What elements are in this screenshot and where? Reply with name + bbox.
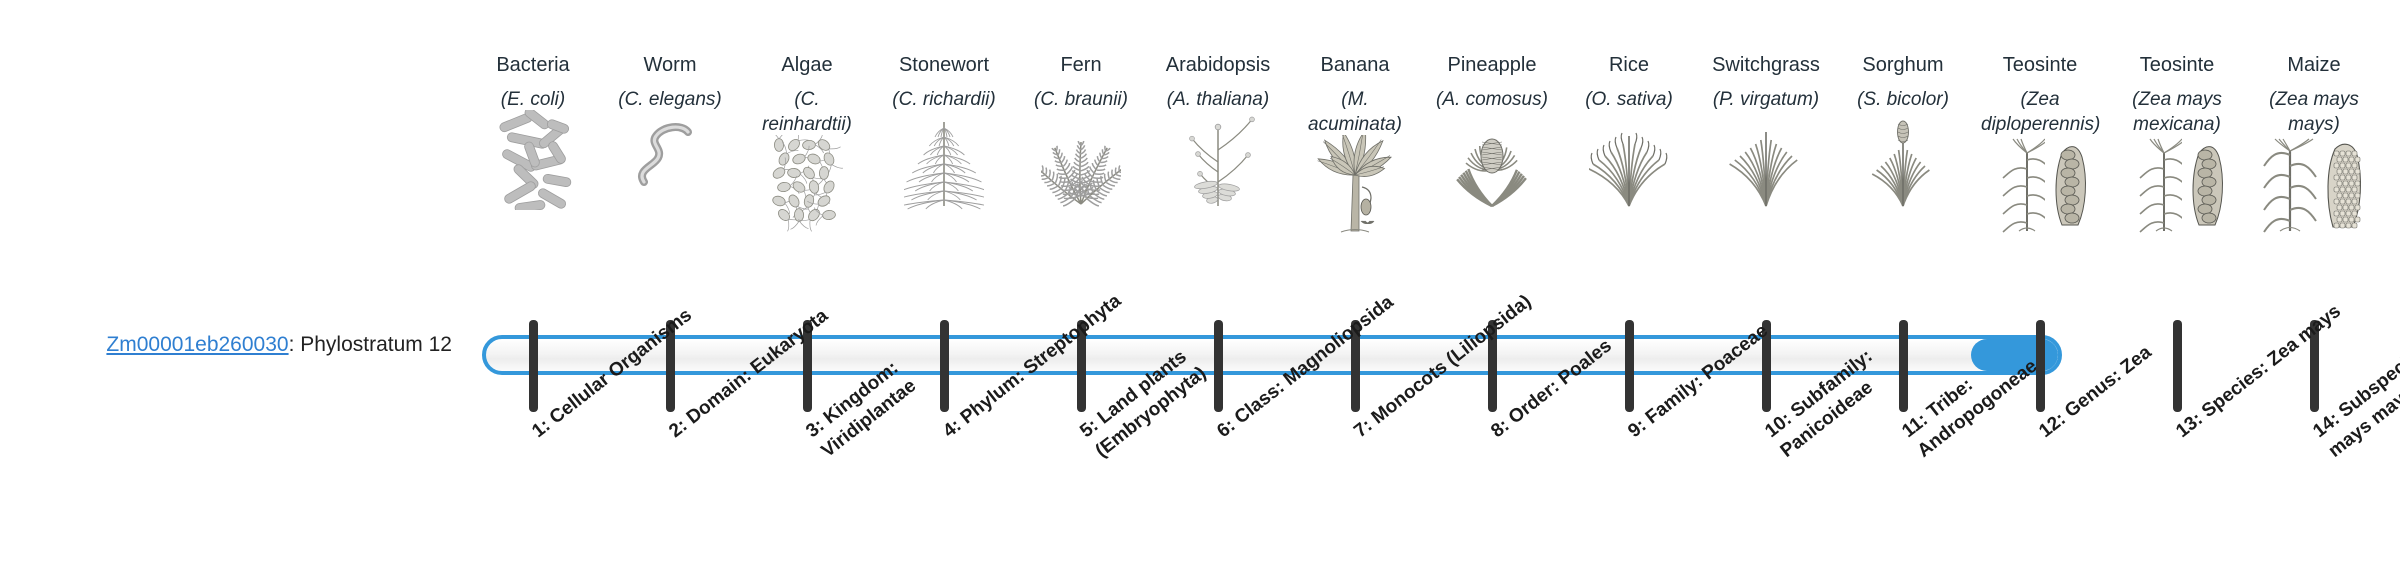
arabidopsis-illustration [1159,118,1277,210]
species-scientific-name: (E. coli) [474,87,592,112]
tier-rank: Genus: Zea [2061,342,2155,422]
species-common-name: Fern [1022,52,1140,78]
species-column-13: Teosinte(Zea mays mexicana) [2118,52,2236,235]
species-scientific-name: (S. bicolor) [1844,87,1962,112]
species-common-name: Maize [2255,52,2373,78]
species-common-name: Algae [748,52,866,78]
species-scientific-name: (C. elegans) [611,87,729,112]
species-common-name: Rice [1570,52,1688,78]
species-column-3: Algae(C. reinhardtii) [748,52,866,235]
species-column-1: Bacteria(E. coli) [474,52,592,210]
tier-number: 13: [2172,409,2207,442]
species-common-name: Arabidopsis [1159,52,1277,78]
species-column-12: Teosinte(Zea diploperennis) [1981,52,2099,235]
worm-illustration [611,118,729,210]
species-scientific-name: (Zea diploperennis) [1981,87,2099,137]
gene-phylostratum-label: Zm00001eb260030: Phylostratum 12 [0,332,452,358]
species-common-name: Worm [611,52,729,78]
stonewort-illustration [885,118,1003,210]
species-column-2: Worm(C. elegans) [611,52,729,210]
species-column-6: Arabidopsis(A. thaliana) [1159,52,1277,210]
phylostratum-value: Phylostratum 12 [300,333,452,356]
banana-illustration [1296,143,1414,235]
species-common-name: Switchgrass [1707,52,1825,78]
species-scientific-name: (Zea mays mays) [2255,87,2373,137]
sorghum-illustration [1844,118,1962,210]
species-scientific-name: (O. sativa) [1570,87,1688,112]
phylostratigraphy-timeline: Zm00001eb260030: Phylostratum 12 Bacteri… [0,0,2400,580]
species-column-11: Sorghum(S. bicolor) [1844,52,1962,210]
pineapple-illustration [1433,118,1551,210]
fern-illustration [1022,118,1140,210]
species-scientific-name: (C. braunii) [1022,87,1140,112]
species-column-8: Pineapple(A. comosus) [1433,52,1551,210]
teosinte-diploperennis-illustration [1981,143,2099,235]
species-common-name: Bacteria [474,52,592,78]
switchgrass-illustration [1707,118,1825,210]
species-common-name: Sorghum [1844,52,1962,78]
tier-rank: Species: Zea mays [2198,301,2345,422]
species-column-5: Fern(C. braunii) [1022,52,1140,210]
maize-illustration [2255,143,2373,235]
species-common-name: Banana [1296,52,1414,78]
species-scientific-name: (Zea mays mexicana) [2118,87,2236,137]
species-scientific-name: (C. richardii) [885,87,1003,112]
teosinte-mexicana-illustration [2118,143,2236,235]
species-common-name: Teosinte [1981,52,2099,78]
algae-illustration [748,143,866,235]
species-column-4: Stonewort(C. richardii) [885,52,1003,210]
timeline-tick-1[interactable] [529,320,538,412]
species-scientific-name: (A. comosus) [1433,87,1551,112]
species-scientific-name: (C. reinhardtii) [748,87,866,137]
species-scientific-name: (M. acuminata) [1296,87,1414,137]
species-column-9: Rice(O. sativa) [1570,52,1688,210]
species-common-name: Pineapple [1433,52,1551,78]
tier-rank: Subspecies: Zea mays mays [2325,313,2400,462]
gene-label-separator: : [289,333,301,356]
species-column-10: Switchgrass(P. virgatum) [1707,52,1825,210]
rice-illustration [1570,118,1688,210]
species-common-name: Stonewort [885,52,1003,78]
timeline-track[interactable] [482,335,2062,375]
species-column-14: Maize(Zea mays mays) [2255,52,2373,235]
gene-id-link[interactable]: Zm00001eb260030 [106,333,288,356]
species-scientific-name: (A. thaliana) [1159,87,1277,112]
species-scientific-name: (P. virgatum) [1707,87,1825,112]
tier-number: 12: [2035,409,2070,442]
species-column-7: Banana(M. acuminata) [1296,52,1414,235]
bacteria-illustration [474,118,592,210]
species-common-name: Teosinte [2118,52,2236,78]
